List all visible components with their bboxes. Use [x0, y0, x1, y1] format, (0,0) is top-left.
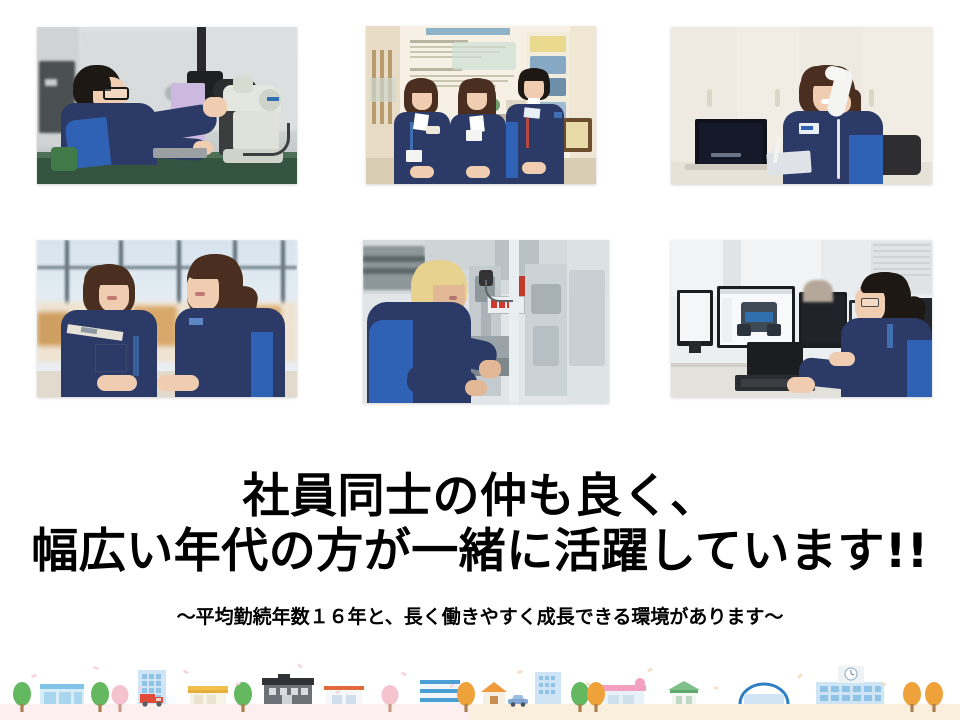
cityscape-illustration-band [0, 658, 960, 720]
headline-line-1: 社員同士の仲も良く、 [0, 470, 960, 524]
slide-root: 社員同士の仲も良く、 幅広い年代の方が一緒に活躍しています!! 〜平均勤続年数１… [0, 0, 960, 720]
photo-cad-design-desk [671, 240, 932, 397]
photo-machine-operation [363, 240, 609, 403]
photo-microscope-inspection [37, 27, 297, 184]
headline: 社員同士の仲も良く、 幅広い年代の方が一緒に活躍しています!! [0, 470, 960, 580]
photo-phone-call-desk [671, 27, 932, 184]
headline-line-2: 幅広い年代の方が一緒に活躍しています!! [0, 524, 960, 580]
photo-two-women-talking [37, 240, 297, 397]
photo-grid [0, 0, 960, 420]
cityscape-svg [0, 658, 960, 720]
photo-three-employees-panel [366, 26, 596, 184]
subtitle: 〜平均勤続年数１６年と、長く働きやすく成長できる環境があります〜 [0, 604, 960, 630]
